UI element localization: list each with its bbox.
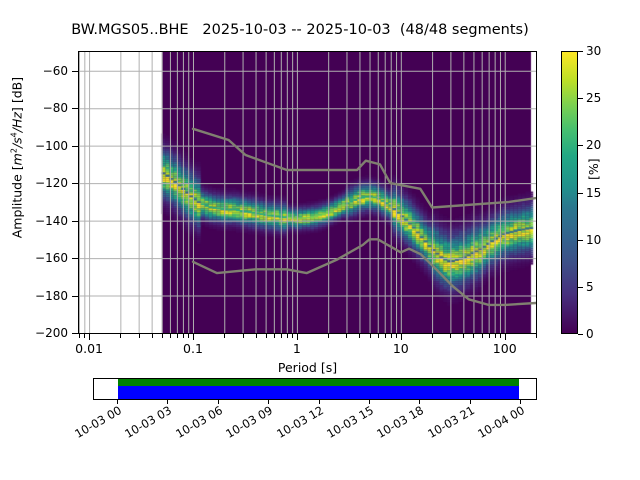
x-tick-minor: [396, 334, 397, 338]
x-tick-major: [89, 334, 90, 340]
x-tick-minor: [482, 334, 483, 338]
colorbar-tick: [578, 193, 583, 194]
plot-title: BW.MGS05..BHE 2025-10-03 -- 2025-10-03 (…: [0, 22, 600, 38]
coverage-tick-label: 10-03 15: [315, 403, 376, 446]
x-tick-minor: [432, 334, 433, 338]
colorbar-tick: [578, 145, 583, 146]
x-tick-minor: [170, 334, 171, 338]
x-tick-minor: [359, 334, 360, 338]
x-tick-label: 0.01: [75, 341, 103, 356]
x-tick-label: 10: [393, 341, 409, 356]
colorbar: [561, 51, 578, 334]
coverage-tick-label: 10-03 18: [366, 403, 427, 446]
y-tick-label: −180: [8, 289, 68, 303]
coverage-tick-label: 10-03 21: [416, 403, 477, 446]
x-tick-major: [297, 334, 298, 340]
x-tick-minor: [292, 334, 293, 338]
x-tick-minor: [256, 334, 257, 338]
y-tick-label: −200: [8, 326, 68, 340]
x-tick-minor: [162, 334, 163, 338]
x-tick-minor: [177, 334, 178, 338]
x-tick-minor: [183, 334, 184, 338]
x-tick-minor: [188, 334, 189, 338]
x-tick-minor: [473, 334, 474, 338]
colorbar-title: [%]: [586, 158, 601, 180]
y-axis-title: Amplitude [m2/s4/Hz] [dB]: [9, 28, 24, 288]
y-tick: [72, 146, 78, 147]
coverage-tick-label: 10-03 12: [265, 403, 326, 446]
y-tick: [72, 183, 78, 184]
x-tick-minor: [84, 334, 85, 338]
colorbar-tick-label: 0: [586, 327, 594, 341]
x-tick-major: [401, 334, 402, 340]
coverage-segment: [118, 386, 519, 399]
x-tick-minor: [287, 334, 288, 338]
colorbar-tick: [578, 240, 583, 241]
x-tick-minor: [378, 334, 379, 338]
colorbar-tick-label: 25: [586, 91, 601, 105]
coverage-tick-label: 10-03 03: [114, 403, 175, 446]
x-tick-label: 1: [293, 341, 301, 356]
x-tick-minor: [243, 334, 244, 338]
x-tick-major: [505, 334, 506, 340]
y-tick: [72, 108, 78, 109]
coverage-tick-label: 10-03 06: [164, 403, 225, 446]
x-tick-minor: [274, 334, 275, 338]
colorbar-tick: [578, 334, 583, 335]
x-axis-title: Period [s]: [78, 360, 537, 375]
x-tick-minor: [536, 334, 537, 338]
coverage-tick-label: 10-04 00: [466, 403, 527, 446]
ppsd-figure: BW.MGS05..BHE 2025-10-03 -- 2025-10-03 (…: [0, 0, 640, 480]
noise-model-curves: [79, 52, 536, 333]
colorbar-tick-label: 30: [586, 44, 601, 58]
x-tick-major: [193, 334, 194, 340]
x-tick-minor: [139, 334, 140, 338]
x-tick-minor: [370, 334, 371, 338]
coverage-segment: [118, 379, 519, 386]
ppsd-axes: [78, 51, 537, 334]
x-tick-label: 100: [493, 341, 517, 356]
x-tick-minor: [281, 334, 282, 338]
x-tick-minor: [79, 334, 80, 338]
x-tick-minor: [500, 334, 501, 338]
colorbar-tick: [578, 287, 583, 288]
x-tick-minor: [495, 334, 496, 338]
colorbar-tick-label: 20: [586, 138, 601, 152]
x-tick-minor: [152, 334, 153, 338]
x-tick-label: 0.1: [183, 341, 203, 356]
y-tick: [72, 296, 78, 297]
x-tick-minor: [463, 334, 464, 338]
x-tick-minor: [391, 334, 392, 338]
data-coverage-axis: [93, 378, 537, 400]
x-tick-minor: [120, 334, 121, 338]
coverage-tick-label: 10-03 09: [214, 403, 275, 446]
x-tick-minor: [328, 334, 329, 338]
y-tick: [72, 333, 78, 334]
y-tick: [72, 71, 78, 72]
y-tick: [72, 258, 78, 259]
ppsd-plot-area: [79, 52, 536, 333]
x-tick-minor: [346, 334, 347, 338]
colorbar-tick-label: 5: [586, 280, 594, 294]
x-tick-minor: [450, 334, 451, 338]
colorbar-tick: [578, 51, 583, 52]
y-tick: [72, 221, 78, 222]
colorbar-tick-label: 15: [586, 186, 601, 200]
x-tick-minor: [224, 334, 225, 338]
x-tick-minor: [489, 334, 490, 338]
x-tick-minor: [385, 334, 386, 338]
x-tick-minor: [266, 334, 267, 338]
colorbar-tick: [578, 98, 583, 99]
colorbar-tick-label: 10: [586, 233, 601, 247]
coverage-tick-label: 10-03 00: [63, 403, 124, 446]
